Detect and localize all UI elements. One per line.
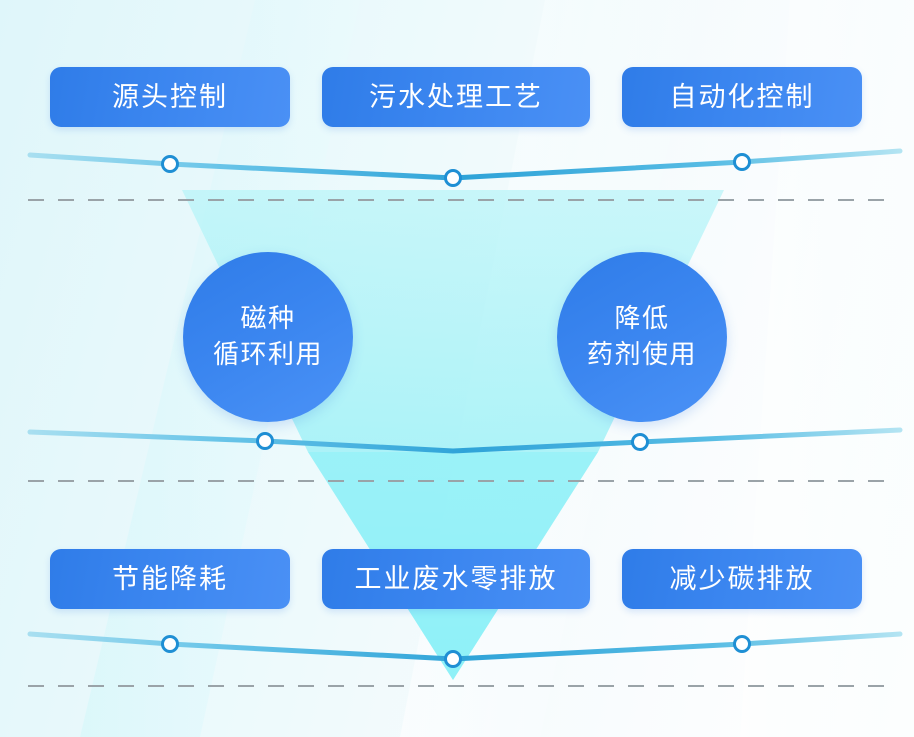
connector-line-2 [30,430,900,451]
circle-reduce-chemical-usage[interactable]: 降低 药剂使用 [557,252,727,422]
pill-label: 源头控制 [112,84,228,111]
pill-energy-saving[interactable]: 节能降耗 [50,549,290,609]
connector-node[interactable] [446,171,461,186]
connector-node[interactable] [633,435,648,450]
connector-node[interactable] [446,652,461,667]
pill-label: 污水处理工艺 [369,84,543,111]
pill-label: 减少碳排放 [670,566,815,593]
pill-label: 工业废水零排放 [355,566,558,593]
circle-magnetic-seed-recycle[interactable]: 磁种 循环利用 [183,252,353,422]
connector-line-1 [30,151,900,178]
circle-label-line2: 药剂使用 [587,337,697,373]
connector-node[interactable] [163,157,178,172]
pill-zero-discharge[interactable]: 工业废水零排放 [322,549,590,609]
pill-automation-control[interactable]: 自动化控制 [622,67,862,127]
pill-wastewater-process[interactable]: 污水处理工艺 [322,67,590,127]
infographic-canvas: 源头控制 污水处理工艺 自动化控制 磁种 循环利用 降低 药剂使用 节能降耗 工… [0,0,914,737]
circle-label-line2: 循环利用 [213,337,323,373]
pill-label: 自动化控制 [670,84,815,111]
pill-reduce-carbon[interactable]: 减少碳排放 [622,549,862,609]
connector-node[interactable] [258,434,273,449]
circle-label-line1: 磁种 [240,301,295,337]
connector-line-3 [30,634,900,659]
connector-node[interactable] [163,637,178,652]
pill-label: 节能降耗 [112,566,228,593]
circle-label-line1: 降低 [614,301,669,337]
connector-node[interactable] [735,637,750,652]
pill-source-control[interactable]: 源头控制 [50,67,290,127]
connector-node[interactable] [735,155,750,170]
